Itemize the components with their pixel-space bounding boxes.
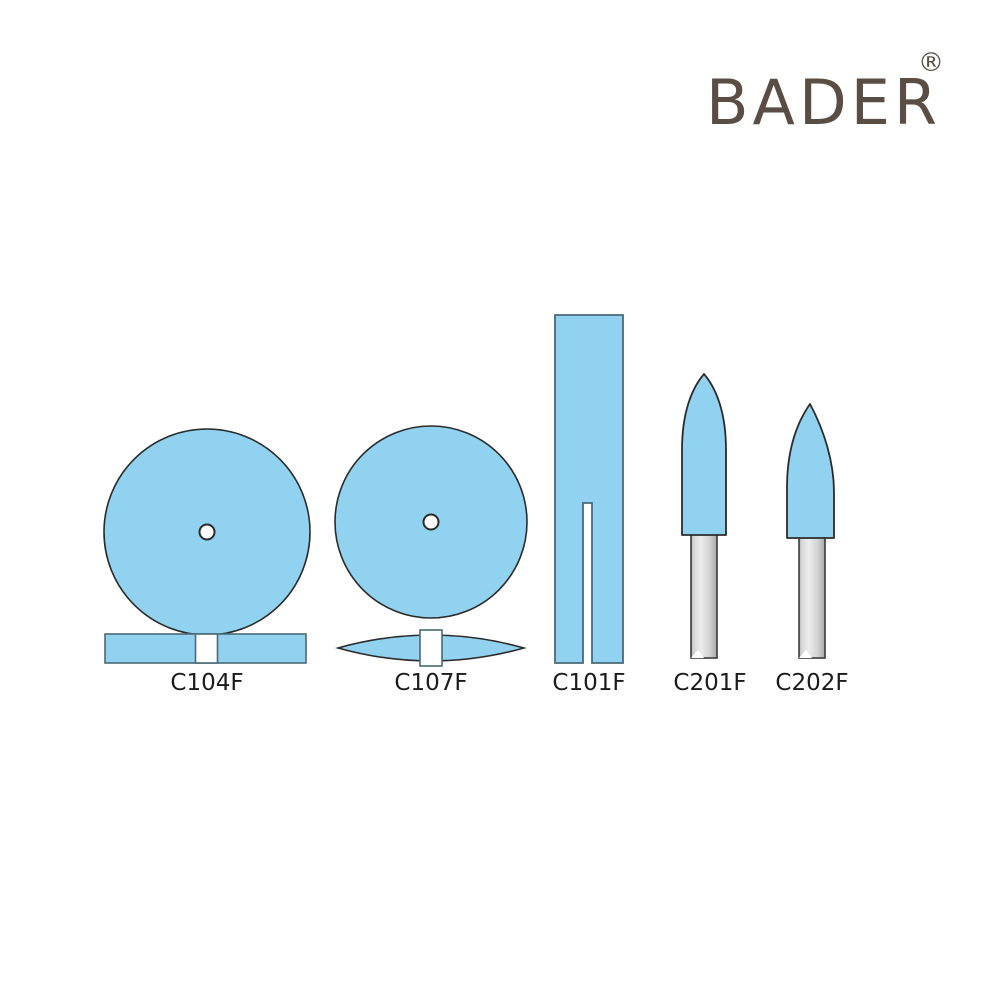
c107f-profile-bore-gap bbox=[420, 630, 442, 666]
c201f-abrasive-head bbox=[682, 374, 726, 535]
c202f-mandrel-shaft bbox=[799, 537, 825, 658]
illustration-page: BADER ® bbox=[0, 0, 1000, 1000]
c104f-profile-bore-gap bbox=[196, 634, 218, 663]
product-c101f[interactable] bbox=[555, 315, 623, 663]
product-c107f[interactable] bbox=[335, 426, 527, 666]
c107f-center-hole-icon bbox=[424, 515, 439, 530]
product-c104f[interactable] bbox=[104, 429, 310, 663]
label-c202f: C202F bbox=[752, 672, 872, 695]
product-illustration-group bbox=[0, 0, 1000, 1000]
product-c201f[interactable] bbox=[682, 374, 726, 658]
c104f-center-hole-icon bbox=[200, 525, 215, 540]
c101f-body bbox=[555, 315, 623, 663]
c202f-abrasive-head bbox=[787, 404, 834, 538]
product-c202f[interactable] bbox=[787, 404, 834, 658]
label-c104f: C104F bbox=[107, 672, 307, 695]
c201f-mandrel-shaft bbox=[691, 533, 717, 658]
label-c101f: C101F bbox=[529, 672, 649, 695]
label-c107f: C107F bbox=[331, 672, 531, 695]
